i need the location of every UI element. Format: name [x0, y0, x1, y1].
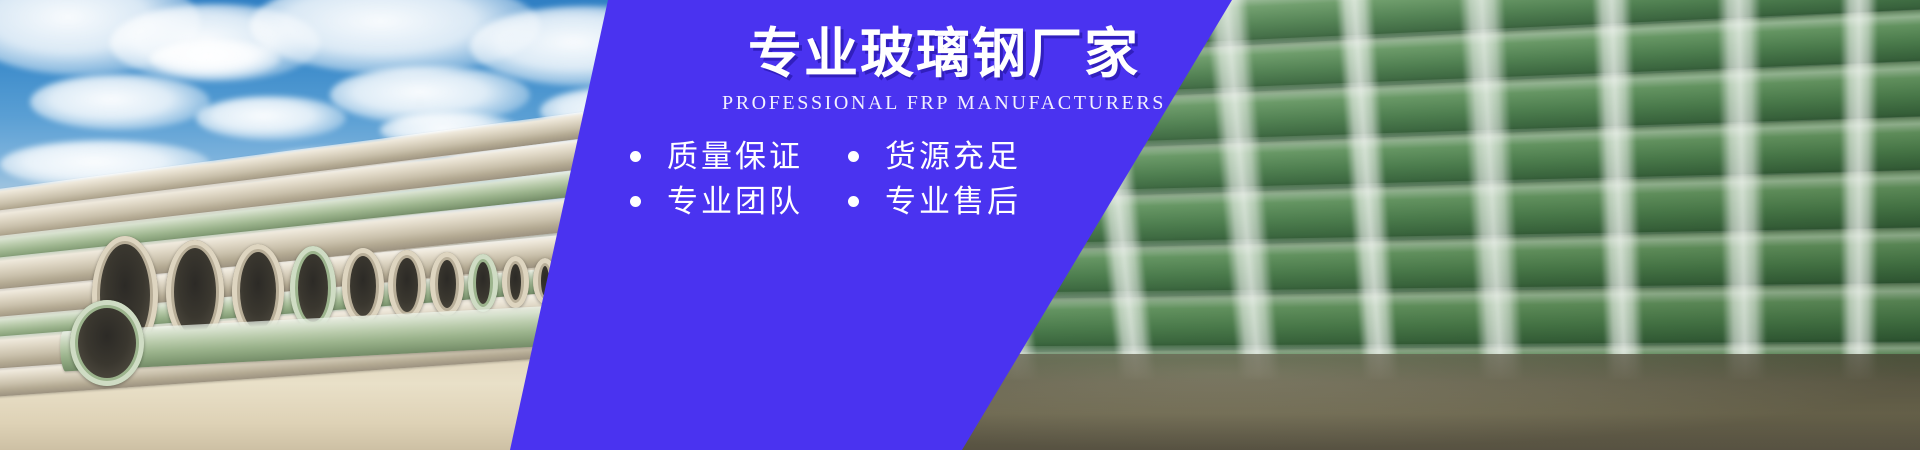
- feature-item-aftersales: 专业售后: [848, 186, 1021, 217]
- feature-list: 质量保证 货源充足 专业团队 专业售后: [612, 141, 1252, 217]
- feature-label: 专业售后: [885, 186, 1021, 217]
- promo-banner: 专业玻璃钢厂家 PROFESSIONAL FRP MANUFACTURERS 质…: [0, 0, 1920, 450]
- pipe-opening: [502, 256, 529, 308]
- feature-label: 专业团队: [667, 186, 803, 217]
- feature-item-supply: 货源充足: [848, 141, 1021, 172]
- banner-subtitle: PROFESSIONAL FRP MANUFACTURERS: [612, 92, 1252, 115]
- feature-row: 专业团队 专业售后: [630, 186, 1252, 217]
- pipe-opening: [342, 248, 384, 324]
- bullet-dot-icon: [630, 151, 641, 162]
- feature-item-team: 专业团队: [630, 186, 848, 217]
- cloud-shape: [30, 74, 210, 130]
- cloud-shape: [150, 40, 280, 78]
- banner-content: 专业玻璃钢厂家 PROFESSIONAL FRP MANUFACTURERS 质…: [612, 0, 1252, 450]
- bullet-dot-icon: [848, 196, 859, 207]
- feature-row: 质量保证 货源充足: [630, 141, 1252, 172]
- feature-label: 质量保证: [667, 141, 803, 172]
- bullet-dot-icon: [848, 151, 859, 162]
- banner-title: 专业玻璃钢厂家: [612, 24, 1252, 84]
- fiberglass-stripe: [1717, 0, 1768, 380]
- feature-label: 货源充足: [885, 141, 1021, 172]
- feature-item-quality: 质量保证: [630, 141, 848, 172]
- pipe-opening: [468, 254, 498, 312]
- pipe-opening: [430, 252, 464, 316]
- pipe-opening: [70, 300, 144, 386]
- bullet-dot-icon: [630, 196, 641, 207]
- fiberglass-stripe: [1840, 0, 1878, 380]
- pipe-opening: [388, 250, 426, 320]
- cloud-shape: [196, 96, 346, 140]
